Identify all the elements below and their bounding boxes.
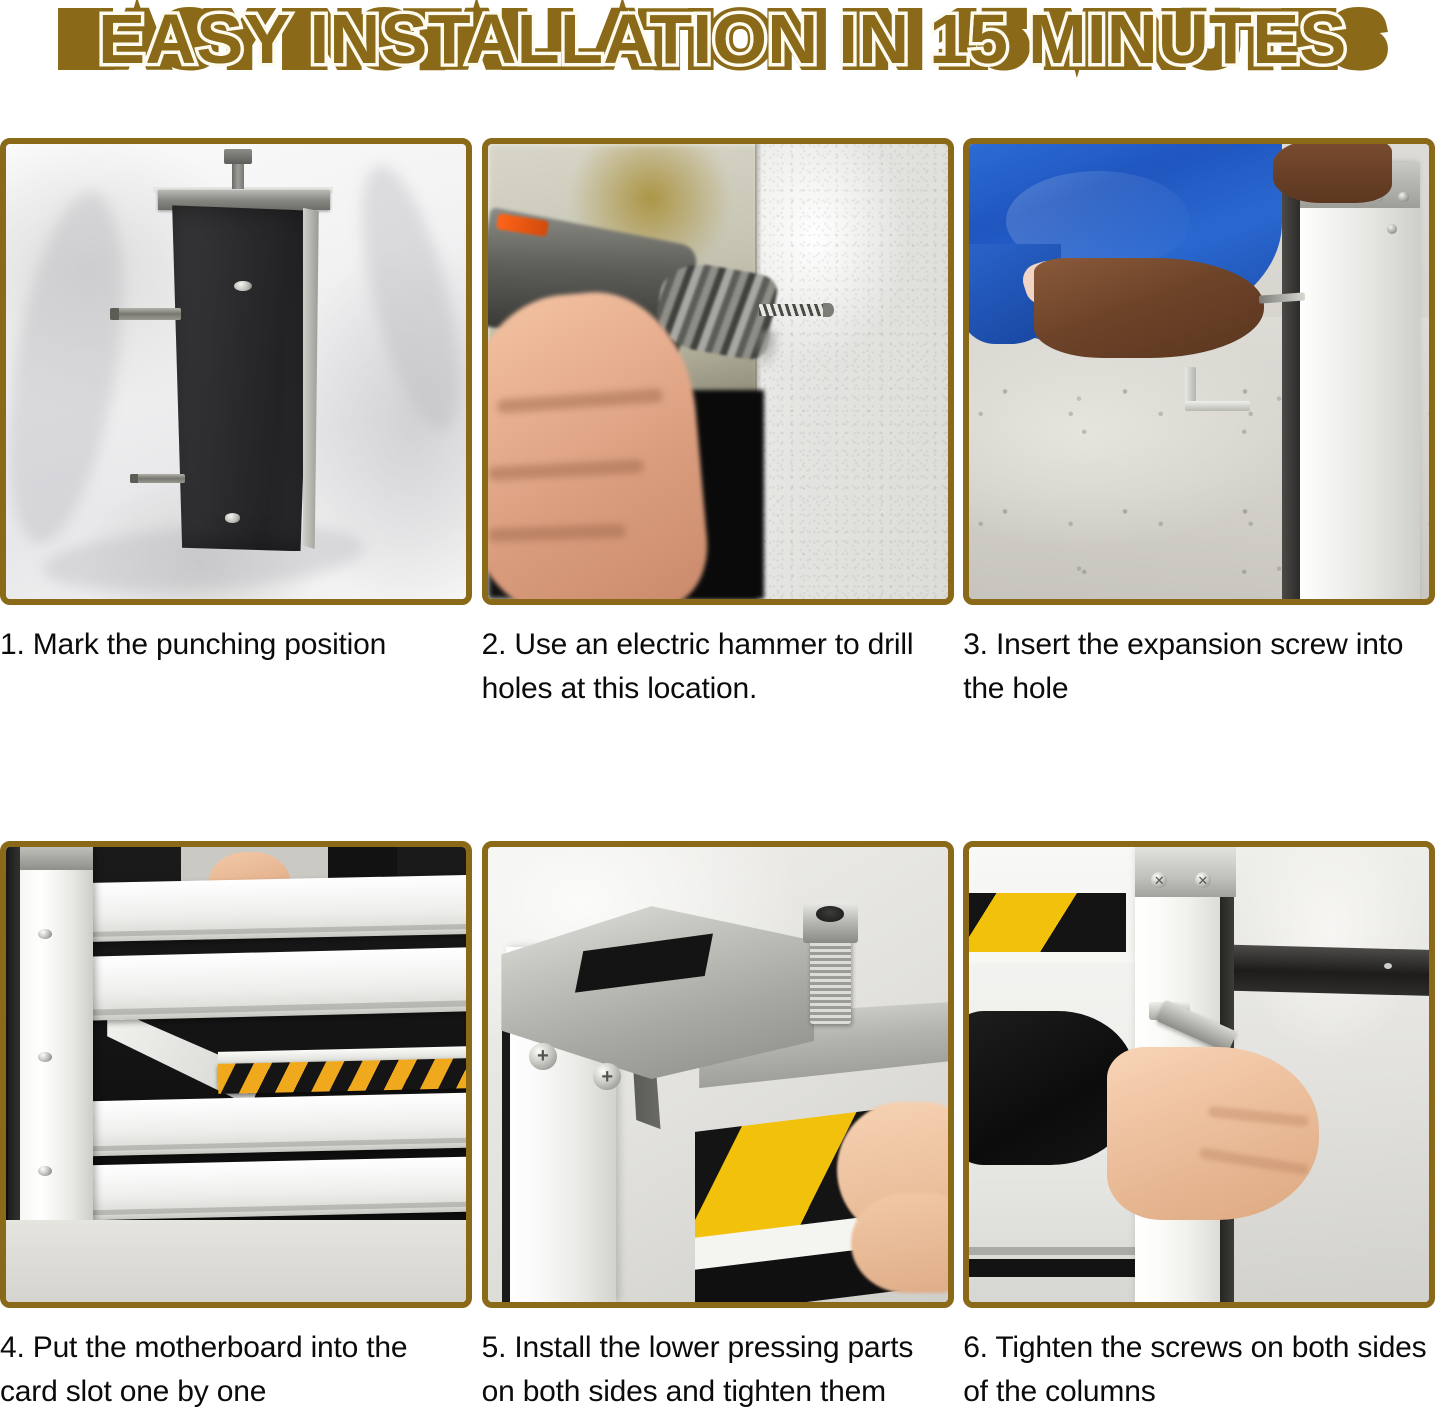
step-caption-3: 3. Insert the expansion screw into the h…: [963, 623, 1431, 711]
steps-row-bottom: 4. Put the motherboard into the card slo…: [0, 841, 1445, 1414]
allen-key-icon: [1185, 367, 1249, 431]
title-wrap: EASY INSTALLATION IN 15 MINUTES EASY INS…: [98, 2, 1346, 76]
column-side-edge: [303, 208, 319, 549]
photo-insert-boards: [6, 847, 466, 1302]
column-shadow-edge: [1282, 171, 1300, 599]
photo-mark-punching-position: [6, 144, 466, 599]
step-caption-5: 5. Install the lower pressing parts on b…: [482, 1326, 950, 1414]
panel-black-band: [969, 1259, 1135, 1277]
column-shadow-edge: [502, 1029, 509, 1302]
step-photo-frame-1: [0, 138, 472, 605]
barrier-board: [79, 947, 466, 1020]
panel-white-band: [969, 952, 1135, 963]
floor: [6, 1220, 466, 1302]
column-body: [169, 205, 312, 551]
slotted-post: [20, 847, 94, 1225]
hazard-stripe: [217, 1058, 466, 1093]
step-photo-frame-5: [482, 841, 954, 1308]
step-photo-frame-2: [482, 138, 954, 605]
screw-icon: [38, 929, 52, 939]
post-cap: [20, 847, 94, 870]
page-title: EASY INSTALLATION IN 15 MINUTES: [98, 0, 1346, 78]
bolt-icon: [110, 308, 181, 320]
step-photo-frame-6: [963, 841, 1435, 1308]
bolt-socket-hole: [816, 906, 844, 921]
forearm: [1034, 258, 1264, 358]
hazard-stripe: [969, 893, 1125, 957]
step-caption-6: 6. Tighten the screws on both sides of t…: [963, 1326, 1431, 1414]
skirting-board: [1208, 944, 1429, 995]
screw-icon: [38, 1052, 52, 1062]
phillips-screw-icon: [1195, 872, 1212, 888]
bolt-icon: [130, 474, 185, 483]
photo-drill-holes: [488, 144, 948, 599]
step-caption-4: 4. Put the motherboard into the card slo…: [0, 1326, 468, 1414]
aluminium-column: [1300, 162, 1420, 599]
screw-icon: [1387, 224, 1397, 234]
cloth-fold-icon: [342, 157, 466, 440]
step-card-5: 5. Install the lower pressing parts on b…: [482, 841, 964, 1414]
panel-groove: [969, 1247, 1135, 1254]
screw-icon: [1398, 192, 1408, 202]
cloth-fold-icon: [6, 184, 144, 550]
barrier-board: [79, 1093, 466, 1157]
title-banner: EASY INSTALLATION IN 15 MINUTES EASY INS…: [0, 0, 1445, 92]
step-card-3: 3. Insert the expansion screw into the h…: [963, 138, 1445, 711]
step-card-6: 6. Tighten the screws on both sides of t…: [963, 841, 1445, 1414]
photo-insert-expansion-screw: [969, 144, 1429, 599]
steps-row-top: 1. Mark the punching position: [0, 138, 1445, 711]
step-card-2: 2. Use an electric hammer to drill holes…: [482, 138, 964, 711]
photo-tighten-screws: [969, 847, 1429, 1302]
hand-icon: [1107, 1047, 1319, 1220]
barrier-board: [79, 1156, 466, 1220]
stud-nut-icon: [224, 149, 252, 164]
step-card-4: 4. Put the motherboard into the card slo…: [0, 841, 482, 1414]
phillips-screw-icon: [1151, 872, 1168, 888]
hand-icon: [1273, 144, 1393, 203]
step-caption-1: 1. Mark the punching position: [0, 623, 468, 667]
phillips-screw-icon: [593, 1063, 621, 1090]
installation-steps-grid: 1. Mark the punching position: [0, 138, 1445, 1414]
board-groove: [80, 924, 466, 938]
drill-dust: [752, 331, 780, 372]
textured-wall: [757, 144, 948, 599]
step-photo-frame-3: [963, 138, 1435, 605]
drill-bit-icon: [759, 304, 826, 316]
phillips-screw-icon: [529, 1043, 557, 1070]
step-card-1: 1. Mark the punching position: [0, 138, 482, 711]
step-photo-frame-4: [0, 841, 472, 1308]
mounting-hole-icon: [234, 281, 252, 291]
mounting-hole-icon: [225, 513, 241, 522]
screw-icon: [38, 1166, 52, 1176]
photo-install-pressing-parts: [488, 847, 948, 1302]
step-caption-2: 2. Use an electric hammer to drill holes…: [482, 623, 950, 711]
barrier-board: [79, 875, 466, 942]
